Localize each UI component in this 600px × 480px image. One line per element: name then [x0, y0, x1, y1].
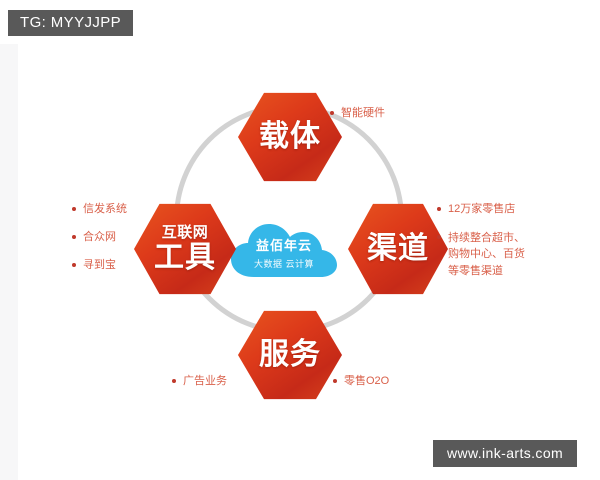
- bullet-item: 寻到宝: [72, 258, 127, 273]
- bullet-item: 零售O2O: [333, 374, 389, 389]
- bullet-item: 广告业务: [172, 374, 227, 389]
- bullet-label: 广告业务: [183, 374, 227, 389]
- bullet-label: 持续整合超市、购物中心、百货等零售渠道: [448, 230, 530, 280]
- site-watermark-badge: www.ink-arts.com: [433, 440, 577, 467]
- bullet-group-right: 12万家零售店 持续整合超市、购物中心、百货等零售渠道: [437, 202, 530, 279]
- bullet-group-bottom-right: 零售O2O: [333, 374, 389, 389]
- tg-watermark-badge: TG: MYYJJPP: [8, 10, 133, 36]
- bullet-item: 信发系统: [72, 202, 127, 217]
- bullet-item: 智能硬件: [330, 106, 385, 121]
- cloud-title: 益佰年云: [256, 239, 312, 253]
- bullet-label: 信发系统: [83, 202, 127, 217]
- bullet-label: 合众网: [83, 230, 116, 245]
- bullet-dot-icon: [72, 235, 76, 239]
- bullet-dot-icon: [72, 207, 76, 211]
- bullet-dot-icon: [437, 235, 441, 239]
- infographic-diagram: 益佰年云 大数据 云计算 载体 渠道 服务 互联网 工具 智能硬件: [0, 44, 600, 436]
- diagram-canvas: 益佰年云 大数据 云计算 载体 渠道 服务 互联网 工具 智能硬件: [0, 0, 600, 480]
- hex-node-left-label: 工具: [154, 243, 216, 273]
- bullet-dot-icon: [330, 111, 334, 115]
- bullet-label: 智能硬件: [341, 106, 385, 121]
- hex-node-top-label: 载体: [259, 122, 321, 152]
- center-cloud-node: 益佰年云 大数据 云计算: [228, 219, 340, 281]
- bullet-dot-icon: [172, 379, 176, 383]
- bullet-label: 寻到宝: [83, 258, 116, 273]
- bullet-group-top: 智能硬件: [330, 106, 385, 121]
- hex-node-right-label: 渠道: [367, 234, 429, 264]
- bullet-label: 零售O2O: [344, 374, 389, 389]
- hex-node-bottom-label: 服务: [259, 340, 321, 370]
- bullet-dot-icon: [333, 379, 337, 383]
- bullet-dot-icon: [437, 207, 441, 211]
- bullet-group-bottom-left: 广告业务: [172, 374, 227, 389]
- bullet-item: 持续整合超市、购物中心、百货等零售渠道: [437, 230, 530, 280]
- bullet-label: 12万家零售店: [448, 202, 515, 217]
- bullet-dot-icon: [72, 263, 76, 267]
- hex-node-left-sublabel: 互联网: [162, 225, 209, 240]
- bullet-item: 12万家零售店: [437, 202, 530, 217]
- cloud-subtitle: 大数据 云计算: [254, 257, 314, 270]
- cloud-text-block: 益佰年云 大数据 云计算: [228, 219, 340, 281]
- bullet-group-left: 信发系统 合众网 寻到宝: [72, 202, 127, 273]
- bullet-item: 合众网: [72, 230, 127, 245]
